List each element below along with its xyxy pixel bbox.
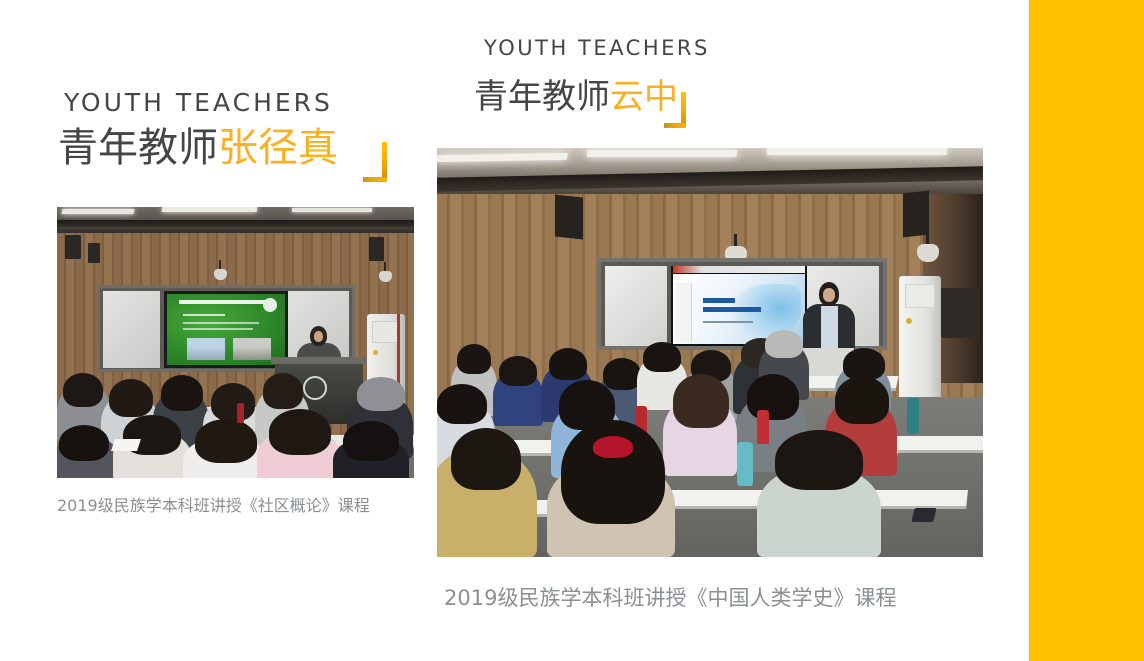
photo1-slide-photo-2 bbox=[233, 338, 271, 360]
teacher-right-eyebrow-wrap: YOUTH TEACHERS bbox=[484, 36, 710, 60]
photo1-ceiling-light-1 bbox=[61, 209, 134, 214]
photo2-student-hair bbox=[747, 374, 799, 420]
photo2-student-hair bbox=[451, 428, 521, 490]
photo2-whiteboard-left bbox=[605, 266, 667, 346]
photo1-speaker-3 bbox=[369, 237, 384, 261]
photo2-teal-bottle-1 bbox=[907, 398, 919, 434]
teacher-left-headline-prefix: 青年教师 bbox=[58, 125, 218, 171]
photo2-teal-bottle-2 bbox=[737, 442, 753, 486]
photo2-ceiling-camera-2 bbox=[917, 244, 939, 262]
bracket-horizontal-stroke bbox=[363, 177, 387, 182]
photo1-slide-green bbox=[167, 294, 285, 365]
teacher-right-headline-name: 云中 bbox=[610, 77, 678, 117]
photo1-slide-line-2 bbox=[183, 322, 259, 324]
photo1-student-hair bbox=[63, 373, 103, 407]
photo2-ceiling-light-3 bbox=[767, 148, 947, 155]
photo2-red-hair-bow bbox=[593, 436, 633, 458]
teacher-right-headline-prefix: 青年教师 bbox=[474, 77, 610, 117]
photo1-ceiling-light-2 bbox=[162, 207, 258, 212]
teacher-left-corner-bracket bbox=[363, 142, 387, 182]
teacher-left-headline: 青年教师张径真 bbox=[58, 128, 338, 168]
photo1-slide-title-bar bbox=[179, 300, 267, 304]
photo2-air-conditioner bbox=[899, 276, 941, 408]
photo2-red-bottle-2 bbox=[757, 410, 769, 444]
photo2-teacher-face bbox=[823, 288, 835, 302]
photo2-ceiling-light-2 bbox=[587, 150, 738, 157]
photo1-teacher-face bbox=[314, 331, 323, 342]
teacher-left-eyebrow-wrap: YOUTH TEACHERS bbox=[64, 88, 333, 117]
photo1-speaker-2 bbox=[88, 243, 100, 263]
teacher-right-headline-wrap: 青年教师云中 bbox=[474, 80, 678, 114]
teacher-left-headline-wrap: 青年教师张径真 bbox=[58, 128, 338, 168]
teacher-right-eyebrow: YOUTH TEACHERS bbox=[484, 36, 710, 60]
photo1-student-hair bbox=[195, 419, 257, 463]
photo2-slide-title-line-2 bbox=[703, 307, 761, 312]
photo1-student-hair bbox=[343, 421, 399, 461]
photo2-speaker-1 bbox=[555, 195, 583, 240]
teacher-left-caption: 2019级民族学本科班讲授《社区概论》课程 bbox=[57, 492, 370, 516]
photo1-ac-panel bbox=[372, 321, 399, 343]
photo2-student-hair bbox=[673, 374, 729, 428]
teacher-right-photo bbox=[437, 148, 983, 557]
photo2-ac-indicator bbox=[906, 318, 912, 324]
photo1-notebook bbox=[111, 439, 141, 451]
photo1-ceiling-light-3 bbox=[292, 208, 372, 212]
bracket-vertical-stroke bbox=[681, 92, 686, 128]
photo1-red-bottle bbox=[237, 403, 244, 423]
photo1-speaker-1 bbox=[65, 235, 81, 259]
photo1-student-hair bbox=[269, 409, 331, 455]
photo2-student-hair bbox=[603, 358, 641, 390]
photo1-projection-screen bbox=[164, 291, 288, 368]
photo2-student-hair bbox=[643, 342, 681, 372]
photo1-slide-photo-1 bbox=[187, 338, 225, 360]
photo2-phone bbox=[911, 508, 936, 522]
photo1-slide-line-3 bbox=[183, 328, 253, 330]
bracket-vertical-stroke bbox=[382, 142, 387, 182]
teacher-right-caption: 2019级民族学本科班讲授《中国人类学史》课程 bbox=[444, 582, 896, 612]
photo2-student-hair bbox=[457, 344, 491, 374]
photo2-student-hair bbox=[437, 384, 487, 424]
teacher-right-headline: 青年教师云中 bbox=[474, 80, 678, 114]
bracket-horizontal-stroke bbox=[664, 123, 686, 128]
photo1-podium-top bbox=[271, 357, 367, 364]
photo1-podium-emblem bbox=[303, 376, 327, 400]
teacher-left-headline-name: 张径真 bbox=[218, 125, 338, 171]
photo2-student-hair bbox=[499, 356, 537, 386]
photo1-student-hair bbox=[211, 383, 255, 421]
photo2-student-hair bbox=[549, 348, 587, 380]
photo1-slide-logo bbox=[263, 298, 277, 312]
photo2-student-hair bbox=[765, 330, 803, 358]
photo2-slide-app-ribbon bbox=[673, 266, 805, 273]
photo1-student-hair bbox=[109, 379, 153, 417]
photo2-student-hair bbox=[775, 430, 863, 490]
teacher-left-photo bbox=[57, 207, 414, 478]
photo1-ceiling-camera-2 bbox=[379, 271, 392, 282]
photo1-student-hair bbox=[161, 375, 203, 411]
photo1-ceiling-camera-1 bbox=[214, 269, 227, 280]
photo2-ac-panel bbox=[905, 284, 935, 308]
photo1-whiteboard-left bbox=[103, 291, 160, 368]
photo1-student-hair bbox=[263, 373, 303, 409]
photo2-slide-thumbnail-pane bbox=[675, 283, 692, 342]
photo1-student-hair bbox=[59, 425, 109, 461]
photo1-student-hair bbox=[357, 377, 405, 411]
right-yellow-band bbox=[1029, 0, 1144, 661]
photo2-student-hair bbox=[835, 376, 889, 424]
photo2-slide-title-line-1 bbox=[703, 298, 735, 303]
photo2-speaker-2 bbox=[903, 191, 929, 238]
photo2-slide-subtitle-line bbox=[703, 321, 753, 323]
teacher-left-eyebrow: YOUTH TEACHERS bbox=[64, 88, 333, 117]
photo1-ac-indicator bbox=[373, 350, 378, 355]
photo1-slide-line-1 bbox=[183, 314, 225, 316]
